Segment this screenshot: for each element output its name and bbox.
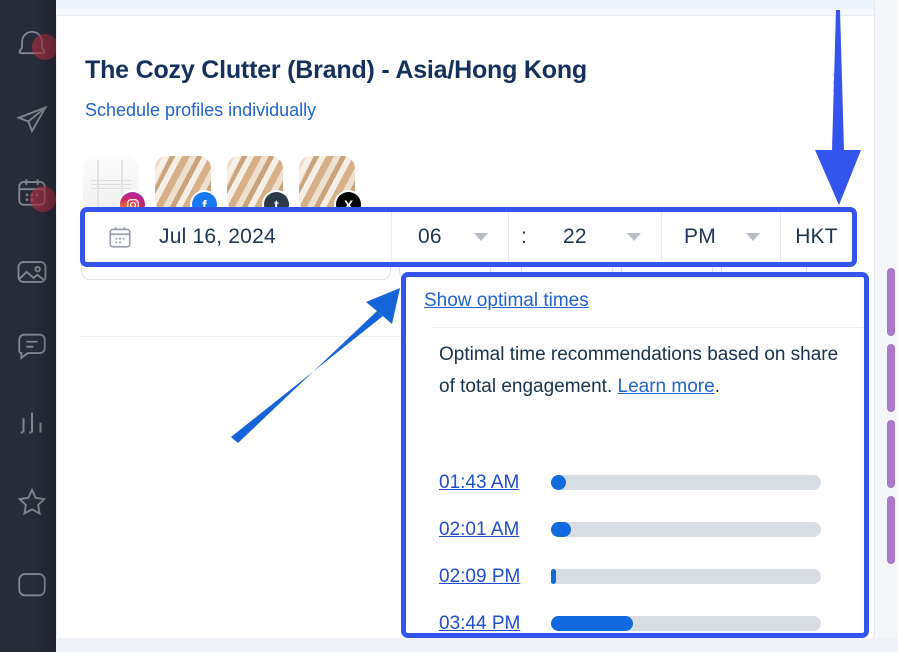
meridiem-dropdown[interactable]: PM	[662, 212, 780, 262]
kebab-dot	[833, 80, 838, 85]
optimal-times-list: 01:43 AM 02:01 AM 02:09 PM 03:44 PM	[439, 459, 859, 638]
optimal-time-link[interactable]: 01:43 AM	[439, 472, 551, 494]
timezone-value: HKT	[795, 225, 838, 249]
engagement-bar-track	[551, 569, 821, 584]
sidebar-item-star[interactable]	[8, 478, 56, 526]
optimal-times-description: Optimal time recommendations based on sh…	[439, 339, 859, 403]
profile-avatar-list: f t X	[83, 156, 355, 212]
calendar-icon	[107, 224, 133, 250]
meridiem-value: PM	[684, 225, 716, 249]
sidebar-item-messages[interactable]	[8, 322, 56, 370]
list-item[interactable]: 02:09 PM	[439, 553, 859, 600]
minute-value: 22	[563, 225, 587, 249]
list-item[interactable]: 02:01 AM	[439, 506, 859, 553]
rail-tab[interactable]	[887, 268, 895, 336]
optimal-time-link[interactable]: 02:09 PM	[439, 566, 551, 588]
time-separator: :	[521, 225, 527, 249]
show-optimal-times-link[interactable]: Show optimal times	[424, 290, 589, 312]
right-rail	[874, 0, 898, 652]
page-title: The Cozy Clutter (Brand) - Asia/Hong Kon…	[85, 56, 587, 85]
media-icon	[15, 255, 49, 289]
schedule-individually-link[interactable]: Schedule profiles individually	[85, 100, 316, 121]
top-strip-inner	[56, 9, 898, 16]
hour-value: 06	[418, 225, 442, 249]
engagement-bar-fill	[551, 475, 566, 490]
messages-icon	[15, 329, 49, 363]
sidebar-item-media[interactable]	[8, 248, 56, 296]
minute-dropdown[interactable]: 22	[539, 212, 661, 262]
engagement-bar-fill	[551, 616, 633, 631]
kebab-menu-icon[interactable]	[833, 72, 838, 93]
chevron-down-icon	[474, 233, 488, 241]
engagement-bar-track	[551, 616, 821, 631]
avatar[interactable]	[83, 156, 139, 212]
kebab-dot	[833, 72, 838, 77]
optimal-times-panel: Show optimal times Optimal time recommen…	[401, 272, 869, 638]
learn-more-link[interactable]: Learn more	[618, 376, 715, 397]
list-item[interactable]: 01:43 AM	[439, 459, 859, 506]
optimal-time-link[interactable]: 02:01 AM	[439, 519, 551, 541]
sidebar-item-inbox[interactable]	[8, 560, 56, 608]
panel-hairline	[432, 327, 868, 328]
engagement-bar-track	[551, 522, 821, 537]
chevron-down-icon	[627, 233, 641, 241]
kebab-dot	[833, 88, 838, 93]
time-separator-wrap: :	[509, 212, 539, 262]
notifications-badge	[32, 34, 56, 60]
rail-tab[interactable]	[887, 496, 895, 564]
sidebar-item-analytics[interactable]	[8, 400, 56, 448]
engagement-bar-fill	[551, 522, 571, 537]
chevron-down-icon	[746, 233, 760, 241]
calendar-badge	[30, 186, 56, 212]
rail-tab[interactable]	[887, 420, 895, 488]
app-root: The Cozy Clutter (Brand) - Asia/Hong Kon…	[0, 0, 898, 652]
rail-tab[interactable]	[887, 344, 895, 412]
avatar[interactable]: f	[155, 156, 211, 212]
engagement-bar-fill	[551, 569, 556, 584]
timezone-display: HKT	[781, 212, 852, 262]
date-field-highlight[interactable]: Jul 16, 2024	[85, 212, 391, 262]
bottom-strip	[56, 638, 898, 652]
optimal-time-link[interactable]: 03:44 PM	[439, 613, 551, 635]
datetime-row-highlight[interactable]: Jul 16, 2024 06 : 22 PM HKT	[80, 207, 857, 267]
avatar-image-detail	[91, 180, 131, 190]
avatar[interactable]: X	[299, 156, 355, 212]
sidebar-item-send[interactable]	[8, 96, 56, 144]
star-icon	[15, 485, 49, 519]
inbox-icon	[15, 567, 49, 601]
date-value: Jul 16, 2024	[159, 225, 276, 249]
analytics-icon	[15, 407, 49, 441]
hour-dropdown[interactable]: 06	[392, 212, 508, 262]
send-icon	[15, 103, 49, 137]
top-strip	[56, 0, 898, 16]
engagement-bar-track	[551, 475, 821, 490]
list-item[interactable]: 03:44 PM	[439, 600, 859, 638]
optimal-times-description-end: .	[715, 376, 720, 397]
left-sidebar	[0, 0, 56, 652]
avatar[interactable]: t	[227, 156, 283, 212]
